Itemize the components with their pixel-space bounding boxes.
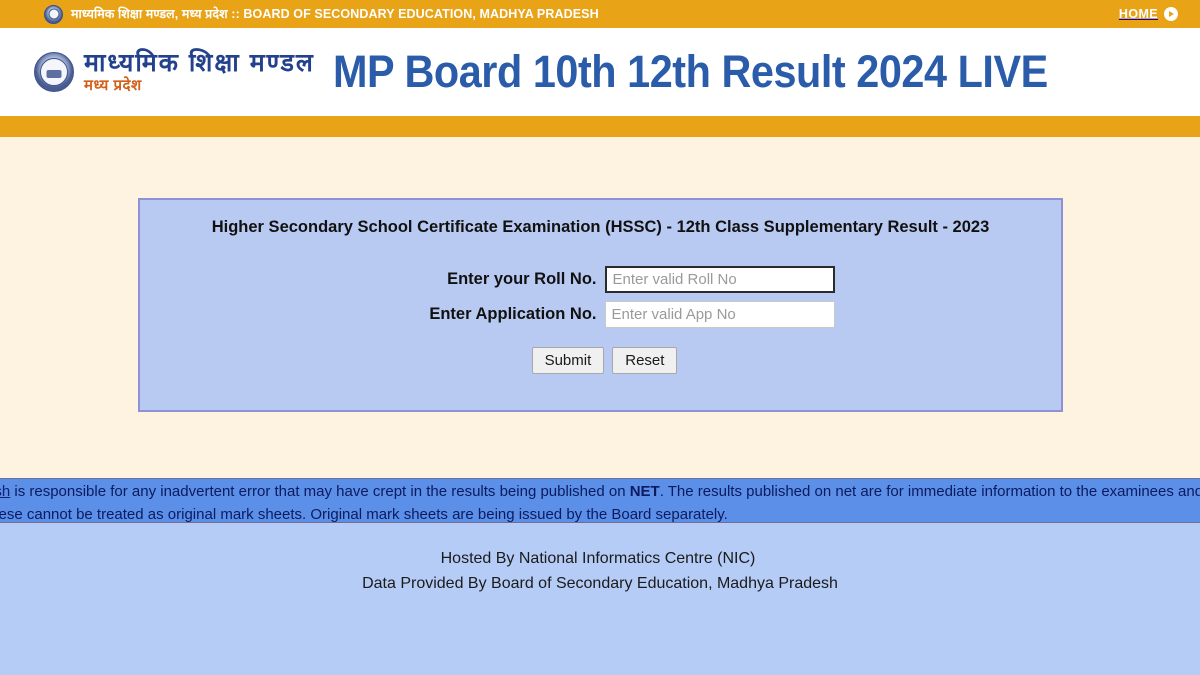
play-circle-icon: [1164, 7, 1178, 21]
board-seal-icon: [44, 5, 63, 24]
application-number-row: Enter Application No.: [140, 301, 1061, 328]
disclaimer-link[interactable]: esh: [0, 483, 10, 500]
home-link-label: HOME: [1119, 7, 1158, 21]
disclaimer-text-part1: is responsible for any inadvertent error…: [10, 483, 630, 500]
brand-hindi-sub: मध्य प्रदेश: [84, 78, 315, 93]
top-bar-title: माध्यमिक शिक्षा मण्डल, मध्य प्रदेश :: BO…: [71, 0, 599, 28]
application-number-label: Enter Application No.: [367, 305, 605, 324]
result-lookup-panel: Higher Secondary School Certificate Exam…: [138, 198, 1063, 412]
mpbse-seal-icon: [34, 52, 74, 92]
disclaimer-text: esh is responsible for any inadvertent e…: [0, 480, 1200, 523]
brand-text: माध्यमिक शिक्षा मण्डल मध्य प्रदेश: [84, 51, 315, 93]
disclaimer-bold-word: NET: [630, 483, 660, 500]
roll-number-row: Enter your Roll No.: [140, 266, 1061, 293]
form-actions: Submit Reset: [524, 347, 678, 374]
footer-data-provider: Data Provided By Board of Secondary Educ…: [0, 572, 1200, 597]
disclaimer-strip: esh is responsible for any inadvertent e…: [0, 478, 1200, 523]
submit-button[interactable]: Submit: [532, 347, 605, 374]
page-title: MP Board 10th 12th Result 2024 LIVE: [333, 46, 1048, 98]
result-form: Enter your Roll No. Enter Application No…: [140, 266, 1061, 374]
brand-lockup: माध्यमिक शिक्षा मण्डल मध्य प्रदेश: [34, 51, 315, 93]
brand-hindi-main: माध्यमिक शिक्षा मण्डल: [84, 49, 315, 77]
home-link[interactable]: HOME: [1119, 0, 1178, 28]
footer-hosted-by: Hosted By National Informatics Centre (N…: [0, 547, 1200, 572]
reset-button[interactable]: Reset: [612, 347, 677, 374]
masthead: माध्यमिक शिक्षा मण्डल मध्य प्रदेश MP Boa…: [0, 28, 1200, 116]
footer: Hosted By National Informatics Centre (N…: [0, 523, 1200, 670]
panel-heading: Higher Secondary School Certificate Exam…: [140, 200, 1061, 240]
orange-divider: [0, 116, 1200, 137]
roll-number-input[interactable]: [605, 266, 835, 293]
roll-number-label: Enter your Roll No.: [367, 270, 605, 289]
application-number-input[interactable]: [605, 301, 835, 328]
content-area: Higher Secondary School Certificate Exam…: [0, 137, 1200, 478]
top-utility-bar: माध्यमिक शिक्षा मण्डल, मध्य प्रदेश :: BO…: [0, 0, 1200, 28]
